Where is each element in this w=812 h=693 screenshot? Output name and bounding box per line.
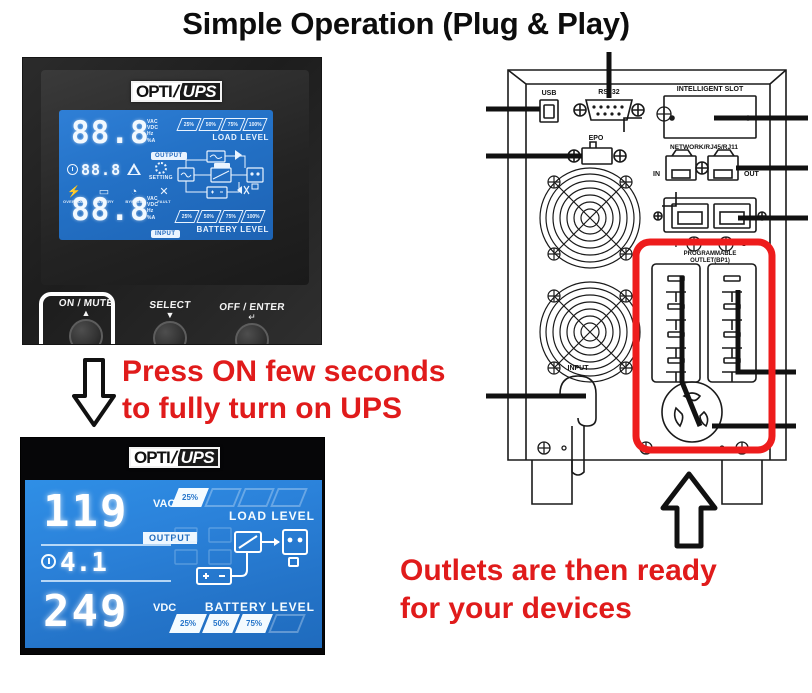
warning-triangle-icon — [127, 163, 141, 175]
select-label: SELECT — [130, 300, 209, 311]
active-battery-bar-25: 25% — [169, 614, 207, 633]
lcd-screen-idle: 88.8 VACVDCHz%A OUTPUT 88.8 SETTING ⚡ OV… — [59, 110, 273, 240]
lcd-battery-level: 25% 50% 75% 100% BATTERY LEVEL — [177, 210, 269, 234]
lcd-status-midrow: 88.8 SETTING — [67, 162, 177, 188]
active-battery-tick-25: 25% — [180, 619, 196, 628]
on-mute-button-cap[interactable] — [69, 319, 103, 345]
logo-ups-text: UPS — [180, 83, 220, 100]
active-runtime-value: 4.1 — [60, 548, 107, 578]
ups-front-panel-photo: OPTI / UPS 88.8 VACVDCHz%A OUTPUT 88.8 S… — [22, 57, 322, 345]
callout-outlets-ready-line2: for your devices — [400, 590, 800, 628]
setting-indicator: SETTING — [149, 162, 173, 181]
active-load-bar-100 — [270, 488, 308, 507]
arrow-down-icon — [72, 357, 116, 429]
opti-ups-logo-active: OPTI / UPS — [129, 447, 220, 468]
active-battery-bars: 25% 50% 75% — [173, 614, 315, 633]
lcd-input-tag: INPUT — [151, 230, 180, 238]
active-load-level: 25% LOAD LEVEL — [175, 488, 315, 523]
lcd-divider-top — [41, 544, 171, 546]
enter-arrow-icon: ↵ — [213, 313, 291, 321]
on-mute-button[interactable]: ON / MUTE ▲ — [47, 298, 125, 345]
battery-tick-25: 25% — [182, 214, 192, 220]
load-level-bars: 25% 50% 75% 100% — [179, 118, 269, 131]
up-arrow-icon: ▲ — [47, 309, 125, 317]
battery-level-label: BATTERY LEVEL — [177, 225, 269, 234]
network-out-label: OUT — [744, 171, 760, 178]
logo-opti-text: OPTI — [133, 83, 174, 100]
active-load-bars: 25% — [175, 488, 315, 507]
load-tick-75: 75% — [228, 122, 238, 128]
active-battery-tick-50: 50% — [213, 619, 229, 628]
fan-grille-top — [540, 168, 640, 268]
active-battery-bar-100 — [268, 614, 306, 633]
battery-tick-75: 75% — [226, 214, 236, 220]
control-button-row: ON / MUTE ▲ SELECT ▼ OFF / ENTER ↵ — [23, 298, 322, 345]
lcd-timer-value: 88.8 — [81, 161, 121, 179]
arrow-up-icon — [660, 470, 718, 550]
fan-grille-bottom — [540, 282, 640, 382]
network-in-label: IN — [653, 171, 660, 178]
off-enter-label: OFF / ENTER — [212, 302, 291, 313]
intelligent-slot-label: INTELLIGENT SLOT — [677, 86, 744, 93]
programmable-outlet-label-line1: PROGRAMMABLE — [684, 251, 737, 257]
logo-opti-text-active: OPTI — [131, 449, 172, 466]
callout-press-on-line2: to fully turn on UPS — [122, 390, 512, 427]
programmable-outlet-label-line2: OUTLET(BP1) — [690, 258, 730, 264]
select-button[interactable]: SELECT ▼ — [131, 300, 209, 345]
load-level-label: LOAD LEVEL — [179, 133, 269, 142]
epo-label: EPO — [589, 135, 604, 142]
page-root: Simple Operation (Plug & Play) OPTI / UP… — [0, 0, 812, 693]
battery-tick-50: 50% — [204, 214, 214, 220]
down-arrow-icon: ▼ — [131, 311, 209, 319]
lcd-output-units: VACVDCHz%A — [147, 119, 158, 144]
load-tick-50: 50% — [206, 122, 216, 128]
usb-label: USB — [542, 90, 557, 97]
off-enter-button-cap[interactable] — [235, 323, 269, 345]
battery-level-bars: 25% 50% 75% 100% — [177, 210, 269, 223]
power-flow-diagram — [177, 146, 271, 204]
active-output-voltage: 119 — [43, 486, 128, 537]
ups-active-display-photo: OPTI / UPS 119 VAC OUTPUT 4.1 249 VDC 25… — [20, 437, 325, 655]
lcd-input-value: 88.8 — [71, 192, 150, 228]
input-label: INPUT — [568, 365, 590, 372]
active-load-level-label: LOAD LEVEL — [175, 509, 315, 523]
active-battery-level: BATTERY LEVEL 25% 50% 75% — [173, 598, 315, 633]
active-battery-voltage: 249 — [43, 586, 128, 637]
active-battery-bar-50: 50% — [202, 614, 240, 633]
active-load-tick-25: 25% — [182, 493, 198, 502]
active-power-flow-diagram — [173, 524, 315, 594]
active-battery-tick-75: 75% — [246, 619, 262, 628]
clock-icon — [67, 164, 78, 175]
lcd-load-level: 25% 50% 75% 100% LOAD LEVEL — [179, 118, 269, 142]
battery-tick-100: 100% — [247, 214, 260, 220]
battery-bar-100: 100% — [240, 210, 265, 223]
lcd-output-value: 88.8 — [71, 115, 150, 151]
network-label: NETWORK/RJ45/RJ11 — [670, 144, 738, 151]
active-load-bar-25: 25% — [171, 488, 209, 507]
opti-ups-logo: OPTI / UPS — [131, 81, 222, 102]
logo-ups-text-active: UPS — [178, 449, 218, 466]
load-bar-100: 100% — [242, 118, 267, 131]
active-battery-level-label: BATTERY LEVEL — [173, 600, 315, 614]
select-button-cap[interactable] — [153, 321, 187, 345]
lcd-divider-bottom — [41, 580, 171, 582]
setting-label: SETTING — [149, 175, 173, 181]
active-battery-bar-75: 75% — [235, 614, 273, 633]
callout-outlets-ready-line1: Outlets are then ready — [400, 552, 800, 590]
off-enter-button[interactable]: OFF / ENTER ↵ — [213, 302, 291, 345]
on-mute-label: ON / MUTE — [46, 298, 125, 309]
clock-icon-active — [41, 554, 56, 569]
page-title: Simple Operation (Plug & Play) — [0, 6, 812, 42]
callout-press-on-line1: Press ON few seconds — [122, 353, 512, 390]
load-tick-100: 100% — [249, 122, 262, 128]
lcd-input-units: VACVDCHz%A — [147, 196, 158, 221]
lcd-screen-active: 119 VAC OUTPUT 4.1 249 VDC 25% LOAD LEVE… — [25, 480, 322, 648]
ups-rear-panel-diagram: USB RS232 — [486, 52, 808, 522]
active-load-bar-50 — [204, 488, 242, 507]
outlet-highlight-box — [636, 242, 772, 450]
gear-icon — [155, 162, 167, 174]
active-load-bar-75 — [237, 488, 275, 507]
callout-outlets-ready: Outlets are then ready for your devices — [400, 552, 800, 628]
callout-press-on: Press ON few seconds to fully turn on UP… — [122, 353, 512, 427]
load-tick-25: 25% — [184, 122, 194, 128]
